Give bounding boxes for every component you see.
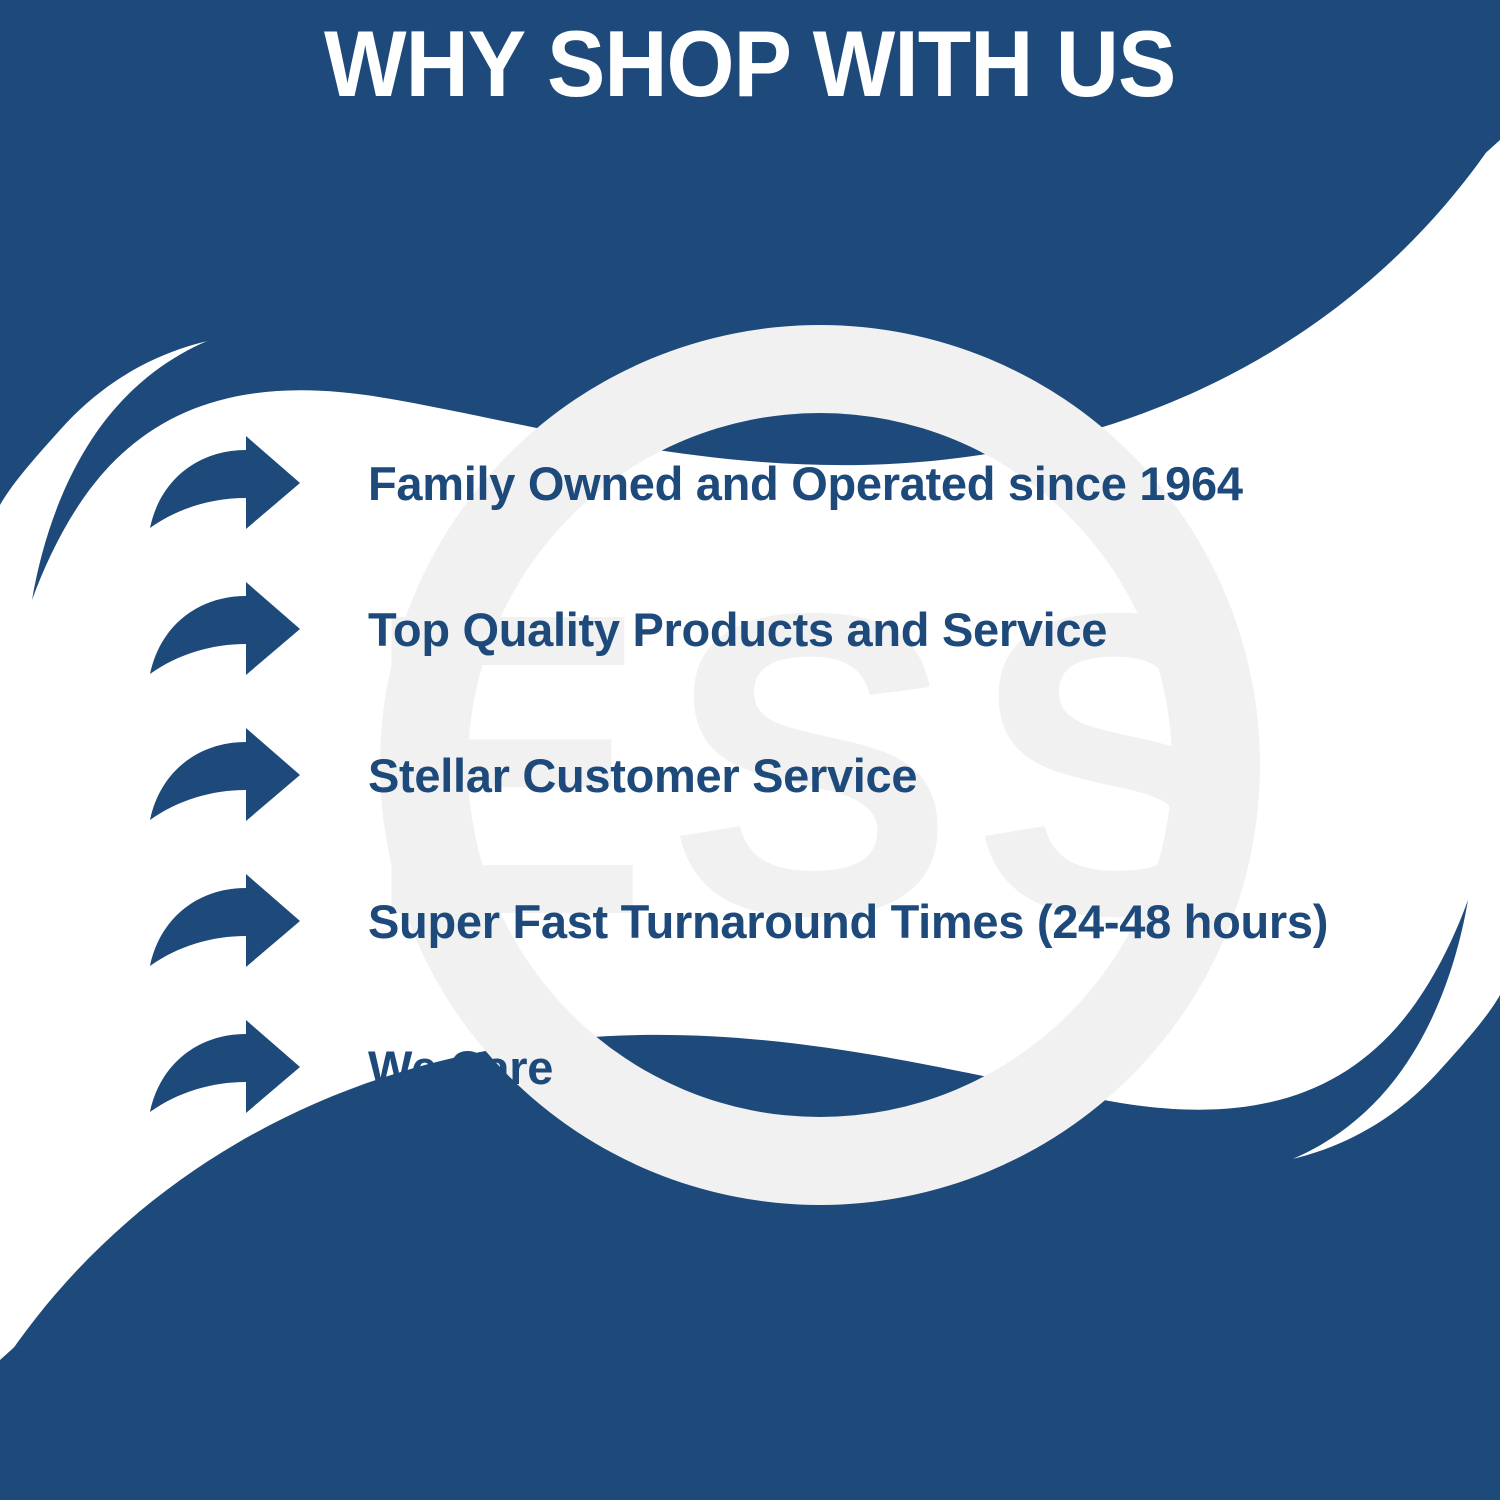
list-item: We Care: [150, 1016, 1450, 1119]
list-item: Top Quality Products and Service: [150, 578, 1450, 681]
curved-arrow-icon: [150, 1020, 300, 1115]
list-item-label: Top Quality Products and Service: [368, 605, 1450, 654]
page-title: WHY SHOP WITH US: [324, 17, 1175, 111]
list-item: Super Fast Turnaround Times (24-48 hours…: [150, 870, 1450, 973]
why-shop-with-us-poster: ESS WHY SHOP WITH US Family Owned and Op…: [0, 0, 1500, 1500]
list-item-label: Family Owned and Operated since 1964: [368, 459, 1450, 508]
curved-arrow-icon: [150, 728, 300, 823]
page-header: WHY SHOP WITH US: [0, 0, 1500, 128]
curved-arrow-icon: [150, 436, 300, 531]
list-item-label: Super Fast Turnaround Times (24-48 hours…: [368, 897, 1450, 946]
list-item-label: Stellar Customer Service: [368, 751, 1450, 800]
list-item: Stellar Customer Service: [150, 724, 1450, 827]
list-item-label: We Care: [368, 1043, 1450, 1092]
curved-arrow-icon: [150, 874, 300, 969]
benefits-list: Family Owned and Operated since 1964 Top…: [150, 432, 1450, 1119]
list-item: Family Owned and Operated since 1964: [150, 432, 1450, 535]
curved-arrow-icon: [150, 582, 300, 677]
